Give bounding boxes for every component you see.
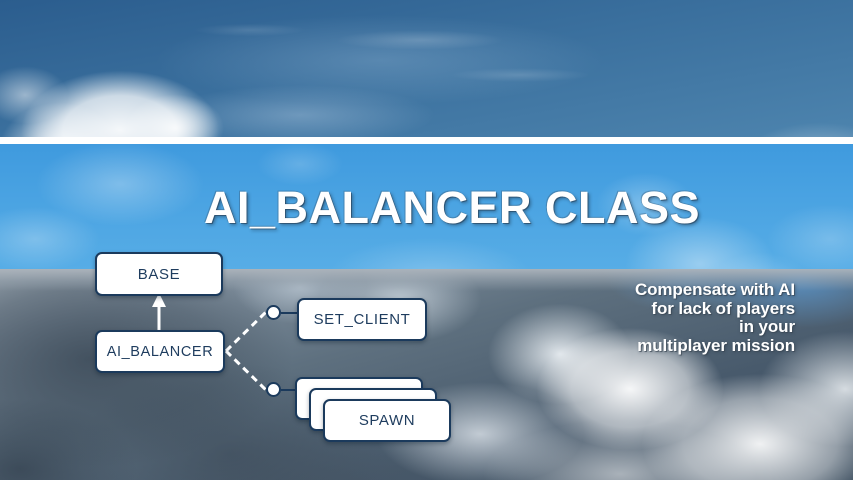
- aggregation-circle-set-client: [266, 305, 281, 320]
- node-spawn-stack: SPAWN: [295, 377, 455, 447]
- aggregation-circle-spawn: [266, 382, 281, 397]
- node-ai-balancer-label: AI_BALANCER: [107, 344, 214, 360]
- node-set-client[interactable]: SET_CLIENT: [297, 298, 427, 341]
- dashed-link-spawn: [226, 351, 266, 390]
- node-base[interactable]: BASE: [95, 252, 223, 296]
- class-diagram: BASE AI_BALANCER SET_CLIENT SPAWN: [0, 0, 853, 480]
- node-ai-balancer[interactable]: AI_BALANCER: [95, 330, 225, 373]
- slide-canvas: AI_BALANCER CLASS Compensate with AI for…: [0, 0, 853, 480]
- spawn-card-front[interactable]: SPAWN: [323, 399, 451, 442]
- node-set-client-label: SET_CLIENT: [314, 311, 411, 328]
- node-spawn-label: SPAWN: [359, 412, 415, 429]
- dashed-link-set-client: [226, 312, 266, 351]
- node-base-label: BASE: [138, 266, 180, 283]
